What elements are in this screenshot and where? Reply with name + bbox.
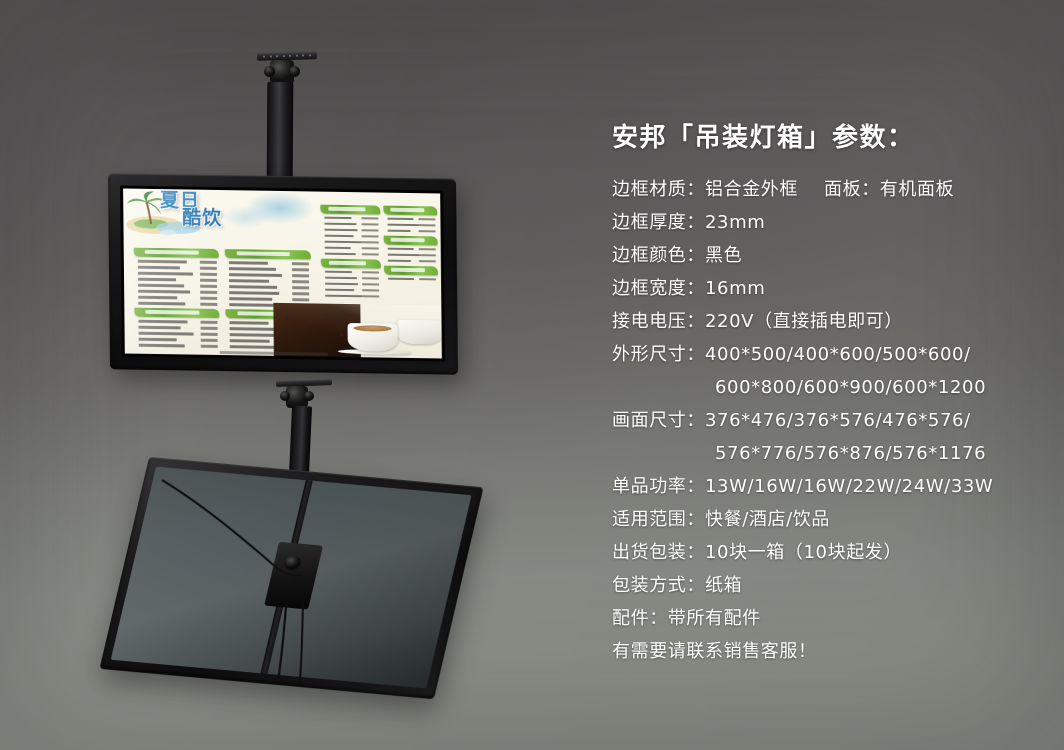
menu-item-price xyxy=(361,229,378,232)
menu-item-name xyxy=(230,285,278,288)
menu-item-name xyxy=(324,229,358,232)
category-banner xyxy=(133,248,219,258)
spec-line-text: 边框颜色：黑色 xyxy=(612,245,742,266)
menu-item-name xyxy=(138,338,176,341)
menu-item-price xyxy=(362,277,379,280)
menu-item-price xyxy=(362,253,379,256)
category-rows xyxy=(384,246,438,265)
menu-item-name xyxy=(325,289,354,292)
spec-line-text: 外形尺寸：400*500/400*600/500*600/ xyxy=(612,344,971,365)
menu-item-name xyxy=(138,320,187,323)
menu-item-price xyxy=(201,339,218,342)
spec-line-6: 600*800/600*900/600*1200 xyxy=(612,371,1042,404)
menu-item-name xyxy=(387,230,410,233)
category-rows xyxy=(133,258,219,307)
menu-item-name xyxy=(387,218,413,221)
menu-item-price xyxy=(361,217,378,220)
coffee-photo xyxy=(273,303,442,358)
menu-item-name xyxy=(325,283,359,286)
spec-line-12: 包装方式：纸箱 xyxy=(612,569,1042,602)
spec-line-text: 边框宽度：16mm xyxy=(612,278,765,299)
menu-item-price xyxy=(362,289,379,292)
spec-line-text: 配件：带所有配件 xyxy=(612,608,761,629)
menu-item-name xyxy=(230,327,276,330)
category-rows xyxy=(384,276,438,283)
category-rows xyxy=(320,269,381,300)
menu-item-name xyxy=(229,267,275,270)
spec-line-text: 适用范围：快餐/酒店/饮品 xyxy=(612,509,830,530)
lower-pivot-knob-left xyxy=(280,391,290,401)
menu-category-3-0 xyxy=(383,206,437,235)
menu-item-name xyxy=(324,253,355,256)
spec-text-block: 安邦「吊装灯箱」参数： 边框材质：铝合金外框面板：有机面板边框厚度：23mm边框… xyxy=(612,124,1042,668)
menu-item-name xyxy=(230,339,270,342)
menu-category-3-2 xyxy=(384,266,438,283)
spec-line-text: 出货包装：10块一箱（10块起发） xyxy=(612,542,902,563)
menu-item-price xyxy=(200,261,217,264)
menu-item-price xyxy=(200,291,217,294)
menu-item-row xyxy=(134,342,220,349)
category-banner xyxy=(320,205,380,215)
menu-item-name xyxy=(388,254,420,257)
spec-line-0: 边框材质：铝合金外框面板：有机面板 xyxy=(612,173,1042,206)
menu-item-name xyxy=(138,284,184,287)
spec-line-1: 边框厚度：23mm xyxy=(612,206,1042,239)
photo-haze-overlay xyxy=(273,303,442,358)
category-banner xyxy=(320,259,380,269)
menu-item-name xyxy=(138,302,186,305)
spec-line-text: 画面尺寸：376*476/376*576/476*576/ xyxy=(612,410,971,431)
menu-item-price xyxy=(420,254,436,257)
menu-item-name xyxy=(387,224,419,227)
menu-item-name xyxy=(230,321,268,324)
top-pivot-knob-left xyxy=(264,66,275,77)
category-banner xyxy=(225,249,311,259)
menu-item-price xyxy=(361,247,378,250)
category-banner xyxy=(384,266,438,276)
menu-category-3-1 xyxy=(384,236,438,265)
category-rows xyxy=(134,318,220,349)
spec-line-8: 576*776/576*876/576*1176 xyxy=(612,437,1042,470)
menu-item-name xyxy=(137,260,186,263)
menu-item-price xyxy=(419,224,435,227)
menu-item-name xyxy=(230,297,273,300)
menu-item-name xyxy=(324,217,351,220)
menu-item-price xyxy=(362,241,379,244)
power-cable xyxy=(99,457,483,699)
spec-line-3: 边框宽度：16mm xyxy=(612,272,1042,305)
menu-item-name xyxy=(138,332,194,335)
menu-item-price xyxy=(362,283,379,286)
category-rows xyxy=(320,215,381,258)
category-banner xyxy=(383,206,437,216)
menu-item-price xyxy=(419,278,436,281)
hanging-lightbox-back xyxy=(99,457,483,699)
menu-item-name xyxy=(324,235,353,238)
menu-category-2-1 xyxy=(320,259,381,300)
category-banner xyxy=(384,236,438,246)
spec-line-text: 接电电压：220V（直接插电即可） xyxy=(612,311,903,332)
menu-item-row xyxy=(134,300,220,307)
menu-item-name xyxy=(229,261,267,264)
spec-line-10: 适用范围：快餐/酒店/饮品 xyxy=(612,503,1042,536)
spec-line-14: 有需要请联系销售客服！ xyxy=(612,635,1042,668)
menu-item-name xyxy=(137,266,180,269)
menu-item-name xyxy=(138,344,184,347)
category-banner xyxy=(134,308,220,318)
menu-item-price xyxy=(419,260,436,263)
upper-support-pole xyxy=(267,82,294,182)
menu-item-price xyxy=(292,280,309,283)
spec-line-text: 600*800/600*900/600*1200 xyxy=(715,377,986,398)
spec-line-text: 边框厚度：23mm xyxy=(612,212,765,233)
menu-item-name xyxy=(137,272,193,275)
menu-item-name xyxy=(324,241,361,244)
spec-line-13: 配件：带所有配件 xyxy=(612,602,1042,635)
menu-item-price xyxy=(292,262,309,265)
menu-item-price xyxy=(201,345,218,348)
menu-item-price xyxy=(200,279,217,282)
menu-item-price xyxy=(418,230,435,233)
menu-column-2 xyxy=(320,205,381,302)
menu-poster-face: 夏日 酷饮 xyxy=(123,189,442,359)
menu-item-price xyxy=(200,273,217,276)
menu-item-price xyxy=(361,223,378,226)
menu-item-row xyxy=(384,276,438,283)
menu-item-price xyxy=(200,285,217,288)
menu-item-price xyxy=(419,248,436,251)
top-pivot-knob-right xyxy=(289,66,300,77)
menu-item-name xyxy=(229,273,282,276)
menu-category-0-0 xyxy=(133,248,219,307)
spec-title: 安邦「吊装灯箱」参数： xyxy=(612,124,1042,153)
menu-item-price xyxy=(292,298,309,301)
menu-item-price xyxy=(362,295,379,298)
menu-item-price xyxy=(201,321,218,324)
menu-category-0-1 xyxy=(134,308,220,349)
menu-item-name xyxy=(388,248,414,251)
menu-item-name xyxy=(325,277,358,280)
spec-line-text: 边框材质：铝合金外框 xyxy=(612,179,798,200)
spec-line-5: 外形尺寸：400*500/400*600/500*600/ xyxy=(612,338,1042,371)
menu-item-name xyxy=(138,290,191,293)
menu-category-1-0 xyxy=(225,249,311,308)
menu-category-2-0 xyxy=(320,205,381,258)
spec-line-9: 单品功率：13W/16W/16W/22W/24W/33W xyxy=(612,470,1042,503)
category-rows xyxy=(383,216,437,235)
menu-item-name xyxy=(230,291,279,294)
menu-item-price xyxy=(361,235,378,238)
spec-line-text: 单品功率：13W/16W/16W/22W/24W/33W xyxy=(612,476,993,497)
menu-item-name xyxy=(138,326,181,329)
menu-item-name xyxy=(138,278,176,281)
menu-item-row xyxy=(320,251,380,258)
lower-pivot-knob-right xyxy=(304,391,314,401)
menu-item-name xyxy=(324,271,351,274)
menu-item-price xyxy=(200,303,217,306)
menu-item-price xyxy=(292,286,309,289)
hanging-lightbox-front: 夏日 酷饮 xyxy=(108,173,458,374)
menu-item-name xyxy=(138,296,178,299)
spec-line-4: 接电电压：220V（直接插电即可） xyxy=(612,305,1042,338)
menu-item-price xyxy=(292,292,309,295)
menu-item-name xyxy=(324,223,357,226)
menu-item-name xyxy=(230,345,278,348)
menu-item-row xyxy=(384,258,438,265)
menu-item-price xyxy=(292,268,309,271)
menu-item-price xyxy=(292,274,309,277)
menu-item-name xyxy=(388,278,414,281)
menu-item-price xyxy=(362,271,379,274)
menu-column-3 xyxy=(383,206,438,285)
spec-line-text: 576*776/576*876/576*1176 xyxy=(715,443,986,464)
menu-item-price xyxy=(200,267,217,270)
spec-line-list: 边框材质：铝合金外框面板：有机面板边框厚度：23mm边框颜色：黑色边框宽度：16… xyxy=(612,173,1042,668)
menu-item-row xyxy=(321,293,381,300)
category-rows xyxy=(225,259,311,308)
menu-item-price xyxy=(201,327,218,330)
spec-line-text: 包装方式：纸箱 xyxy=(612,575,742,596)
menu-item-price xyxy=(418,218,435,221)
menu-item-name xyxy=(229,279,269,282)
spec-line-text: 有需要请联系销售客服！ xyxy=(612,641,817,662)
menu-item-name xyxy=(324,247,350,250)
spec-line-7: 画面尺寸：376*476/376*576/476*576/ xyxy=(612,404,1042,437)
menu-column-0 xyxy=(133,248,220,351)
screenshot-root: 夏日 酷饮 xyxy=(0,0,1064,750)
menu-item-row xyxy=(383,228,437,235)
menu-item-price xyxy=(201,333,218,336)
spec-line-11: 出货包装：10块一箱（10块起发） xyxy=(612,536,1042,569)
menu-item-name xyxy=(388,260,411,263)
menu-item-name xyxy=(325,295,362,298)
spec-line-2: 边框颜色：黑色 xyxy=(612,239,1042,272)
spec-line-extra: 面板：有机面板 xyxy=(824,179,954,200)
menu-item-price xyxy=(200,297,217,300)
